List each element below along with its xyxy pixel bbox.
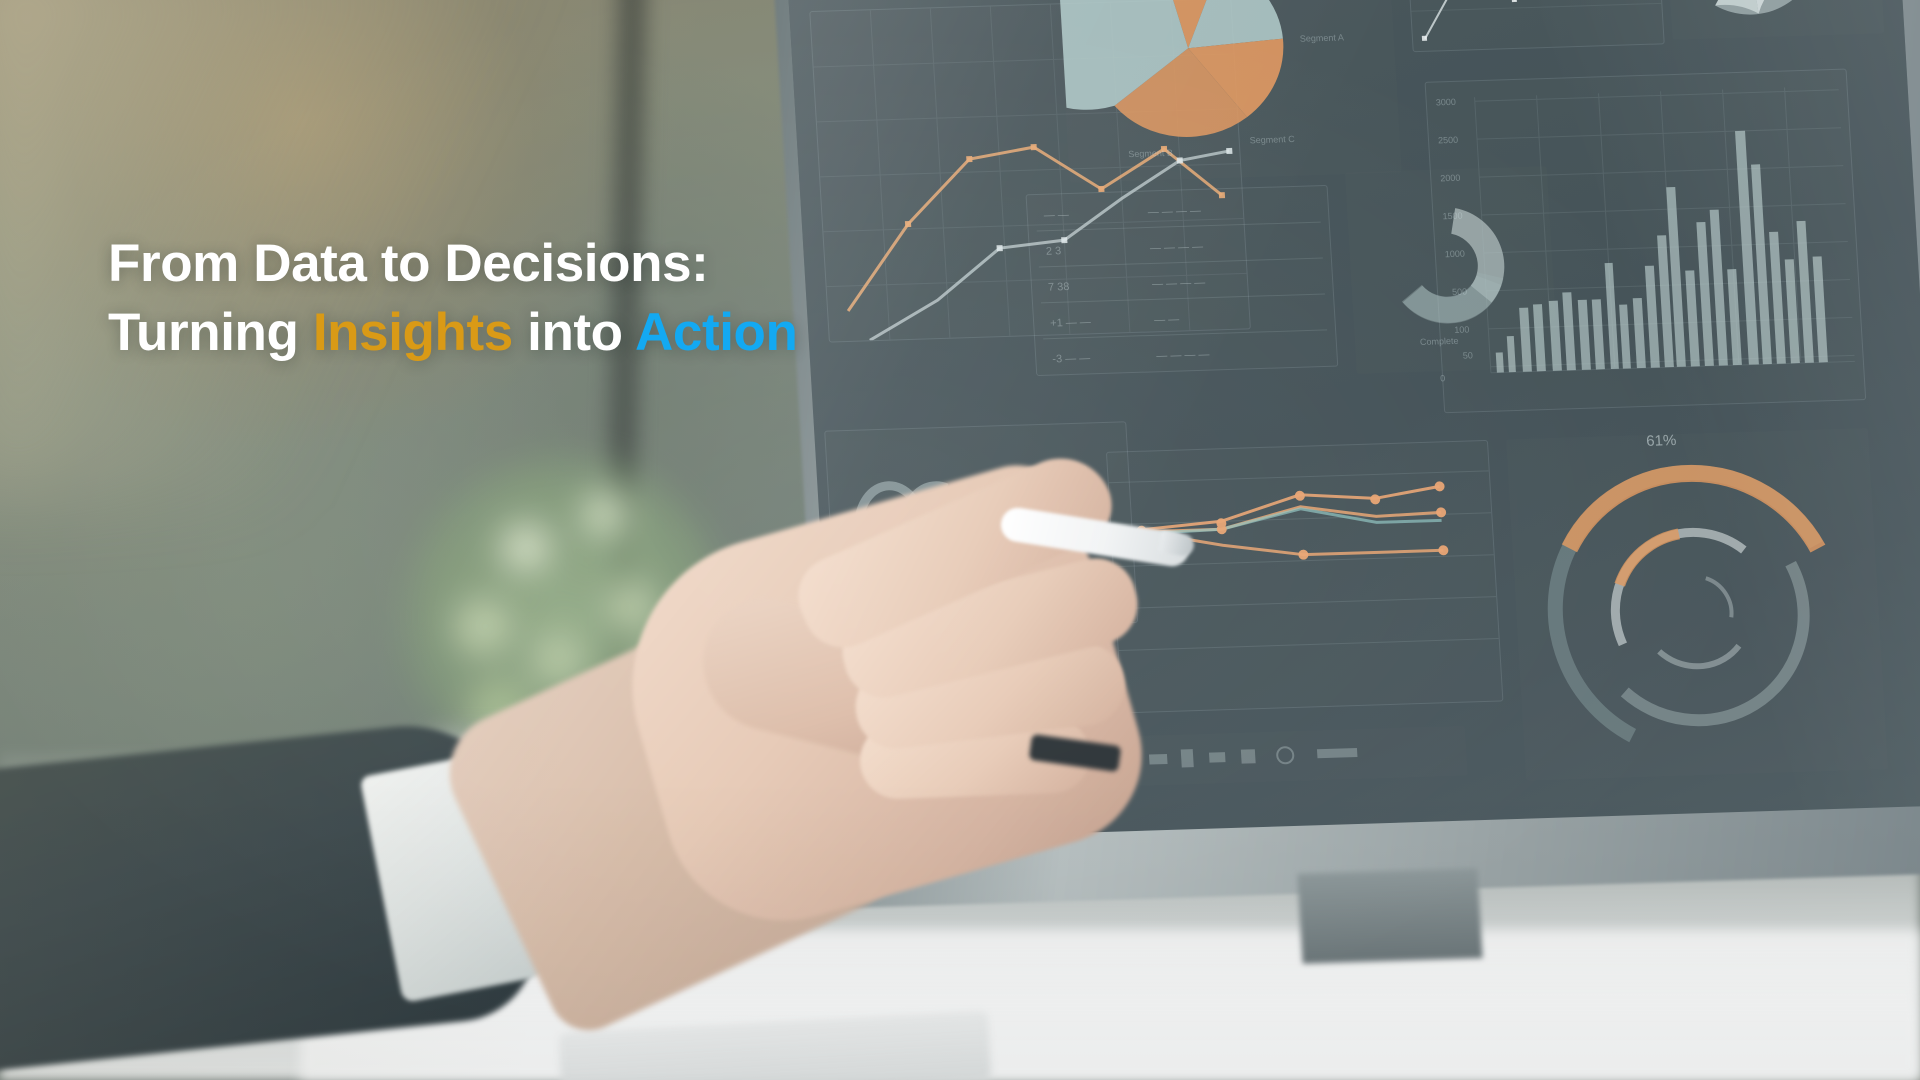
volume-ytick-2000: 2000 [1440,173,1461,184]
headline-block: From Data to Decisions: Turning Insights… [108,230,798,368]
volume-ytick-50: 50 [1463,350,1474,360]
volume-ytick-2500: 2500 [1438,135,1459,146]
volume-ytick-0: 0 [1440,373,1446,383]
multi-line-svg [1107,441,1502,712]
volume-ytick-3000: 3000 [1435,97,1456,108]
chart-radial-gauge[interactable] [1506,428,1888,781]
radial-gauge-svg [1507,429,1887,780]
svg-text:— —: — — [1043,209,1069,222]
pie-label-a: Segment A [1299,32,1344,43]
chart-volume-column[interactable] [1425,69,1867,414]
svg-text:-3 — —: -3 — — [1052,352,1091,365]
svg-text:— — — —: — — — — [1152,277,1206,291]
headline-line2-part2: into [513,303,635,362]
svg-text:— — — —: — — — — [1156,349,1210,363]
svg-text:— —: — — [1154,314,1180,327]
svg-text:2 3: 2 3 [1046,245,1062,257]
chart-zigzag-scatter-line[interactable] [1403,0,1665,52]
hero-banner: Segment A Segment B Segment C [0,0,1920,1080]
volume-ytick-500: 500 [1452,287,1468,297]
svg-text:+1 — —: +1 — — [1050,316,1091,329]
svg-text:7 38: 7 38 [1048,281,1070,294]
headline-line-2: Turning Insights into Action [108,299,798,368]
headline-highlight-insights: Insights [313,303,513,362]
volume-ytick-1500: 1500 [1442,211,1463,222]
monitor-stand [1297,868,1482,963]
kpi-percentage: 61% [1646,432,1677,450]
svg-text:— — — —: — — — — [1147,205,1201,219]
headline-line2-part1: Turning [108,303,313,362]
svg-text:— — — —: — — — — [1150,241,1204,255]
zigzag-line-svg [1404,0,1663,51]
table-metrics[interactable]: — —— — — — 2 3— — — — 7 38— — — — +1 — —… [1026,185,1339,376]
headline-highlight-action: Action [635,303,797,362]
volume-column-svg [1426,70,1866,413]
headline-line-1: From Data to Decisions: [108,230,798,299]
metrics-table-lines: — —— — — — 2 3— — — — 7 38— — — — +1 — —… [1027,186,1338,375]
chart-status-pie-top-right[interactable] [1662,0,1884,40]
market-share-pie-svg [1055,0,1401,182]
chart-multi-line-comparison[interactable] [1106,440,1503,714]
status-pie-svg [1663,0,1883,39]
volume-ytick-1000: 1000 [1445,249,1466,260]
pie-label-c: Segment C [1249,134,1295,145]
status-strip[interactable] [1133,726,1468,786]
pie-label-b: Segment B [1128,148,1173,159]
status-strip-icons [1134,727,1467,785]
chart-market-share-pie[interactable] [1054,0,1402,183]
volume-ytick-100: 100 [1454,324,1470,334]
